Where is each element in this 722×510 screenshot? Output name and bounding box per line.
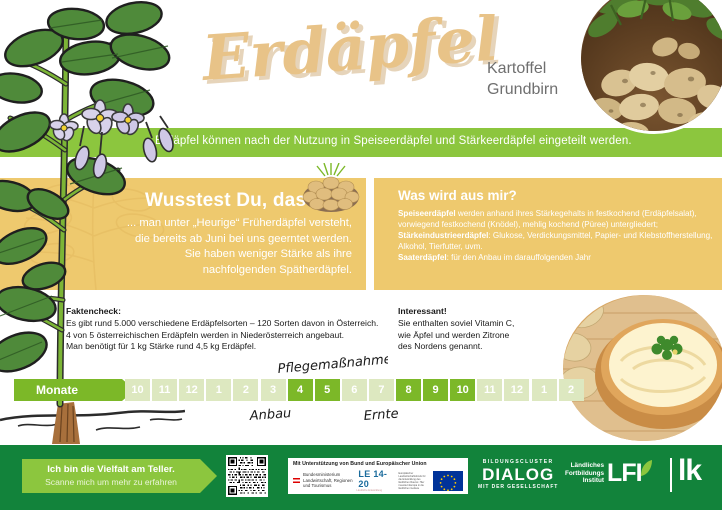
eu-funding-logo-box: Mit Unterstützung von Bund und Europäisc… (288, 458, 468, 494)
logo-lfi: Ländliches Fortbildungs Institut LFI (565, 461, 653, 486)
term-staerkeindustrieerdaepfel: Stärkeindustrieerdäpfel: Glukose, Verdic… (398, 231, 712, 251)
month-cell-2-16: 2 (559, 379, 584, 401)
intro-banner: Erdäpfel können nach der Nutzung in Spei… (0, 128, 722, 157)
lfi-wordmark: Ländliches Fortbildungs Institut (565, 462, 604, 484)
timeline-label: Monate (14, 379, 122, 401)
cta-line-2: Scanne mich um mehr zu erfahren (22, 477, 200, 487)
fact-check-line-3: Man benötigt für 1 kg Stärke rund 4,5 kg… (66, 341, 396, 353)
month-cell-11-1: 11 (152, 379, 177, 401)
month-cell-11-13: 11 (477, 379, 502, 401)
lfi-monogram: LFI (607, 461, 642, 486)
subtitle-grundbirn: Grundbirn (487, 79, 558, 100)
month-cell-8-10: 8 (396, 379, 421, 401)
eu-stars (433, 471, 463, 491)
mashed-potato-photo (560, 292, 722, 444)
fact-check-title: Faktencheck: (66, 306, 396, 316)
did-you-know-body: ... man unter „Heurige“ Früherdäpfel ver… (118, 216, 352, 278)
fact-check-line-1: Es gibt rund 5.000 verschiedene Erdäpfel… (66, 318, 396, 330)
title-script-art: Erdäpfel Erdäpfel (198, 14, 518, 106)
interesting-line-1: Sie enthalten soviel Vitamin C, (398, 318, 578, 330)
month-cell-12-2: 12 (179, 379, 204, 401)
eu-logo-row: Bundesministerium Landwirtschaft, Region… (293, 469, 463, 492)
month-cell-10-0: 10 (125, 379, 150, 401)
month-cell-4-6: 4 (288, 379, 313, 401)
dialog-logo-bottom: MIT DER GESELLSCHAFT (478, 484, 558, 490)
interesting-box: Interessant! Sie enthalten soviel Vitami… (398, 306, 578, 353)
fact-check-line-2: 4 von 5 österreichischen Erdäpfeln werde… (66, 330, 396, 342)
eu-support-title: Mit Unterstützung von Bund und Europäisc… (293, 461, 463, 467)
month-cell-3-5: 3 (261, 379, 286, 401)
page-title: Erdäpfel Erdäpfel (198, 14, 518, 106)
fact-check-box: Faktencheck: Es gibt rund 5.000 verschie… (66, 306, 396, 353)
potato-cluster-icon (300, 163, 362, 213)
what-becomes-title: Was wird aus mir? (398, 188, 517, 203)
month-cell-2-4: 2 (233, 379, 258, 401)
subtitle-kartoffel: Kartoffel (487, 58, 558, 79)
interesting-line-3: des Nordens genannt. (398, 341, 578, 353)
lfi-line-2: Fortbildungs (565, 470, 604, 477)
logo-divider (670, 458, 672, 492)
mashed-potato-illustration (563, 295, 722, 444)
cta-line-1: Ich bin die Vielfalt am Teller. (22, 464, 200, 475)
subtitle-block: Kartoffel Grundbirn (487, 58, 558, 100)
le-program-logo: LE 14-20 Ländliche Entwicklung (356, 469, 392, 492)
term-saaterdaepfel: Saaterdäpfel: für den Anbau im darauffol… (398, 253, 591, 262)
dialog-logo-main: DIALOG (478, 465, 558, 484)
qr-code-image (228, 457, 266, 495)
poster-infographic: © Fotolia/Mauro Rodrigues Erdäpfel Erdäp… (0, 0, 722, 510)
interesting-line-2: wie Äpfel und werden Zitrone (398, 330, 578, 342)
lfi-line-3: Institut (565, 477, 604, 484)
term-speiseerdaepfel: Speiseerdäpfel werden anhand ihres Stärk… (398, 209, 697, 229)
logo-bildungscluster-dialog: BILDUNGSCLUSTER DIALOG MIT DER GESELLSCH… (478, 459, 558, 490)
month-cell-12-14: 12 (504, 379, 529, 401)
month-timeline: Monate 10111212345678910111212 (0, 379, 722, 401)
lfi-line-1: Ländliches (565, 462, 604, 469)
le-program-label: LE 14-20 (358, 469, 392, 489)
month-cell-1-15: 1 (532, 379, 557, 401)
what-becomes-body: Speiseerdäpfel werden anhand ihres Stärk… (398, 209, 716, 264)
lfi-leaf-icon (639, 460, 653, 478)
le-program-sub: Ländliche Entwicklung (356, 489, 392, 492)
month-cell-7-9: 7 (369, 379, 394, 401)
month-cell-1-3: 1 (206, 379, 231, 401)
month-cell-6-8: 6 (342, 379, 367, 401)
month-cell-5-7: 5 (315, 379, 340, 401)
potato-harvest-illustration (581, 0, 722, 134)
interesting-title: Interessant! (398, 306, 578, 316)
month-cell-9-11: 9 (423, 379, 448, 401)
eu-funding-note: Europäischer Landwirtschaftsfonds für di… (398, 472, 428, 490)
month-cell-10-12: 10 (450, 379, 475, 401)
logo-lk: lk (678, 456, 701, 486)
eu-flag-icon (433, 471, 463, 491)
austria-flag-icon (293, 478, 300, 483)
cta-banner[interactable]: Ich bin die Vielfalt am Teller. Scanne m… (22, 459, 200, 493)
ministry-name: Bundesministerium Landwirtschaft, Region… (303, 472, 353, 488)
intro-banner-text: Erdäpfel können nach der Nutzung in Spei… (155, 135, 632, 147)
qr-code[interactable] (226, 455, 268, 497)
title-main: Erdäpfel (198, 14, 501, 95)
